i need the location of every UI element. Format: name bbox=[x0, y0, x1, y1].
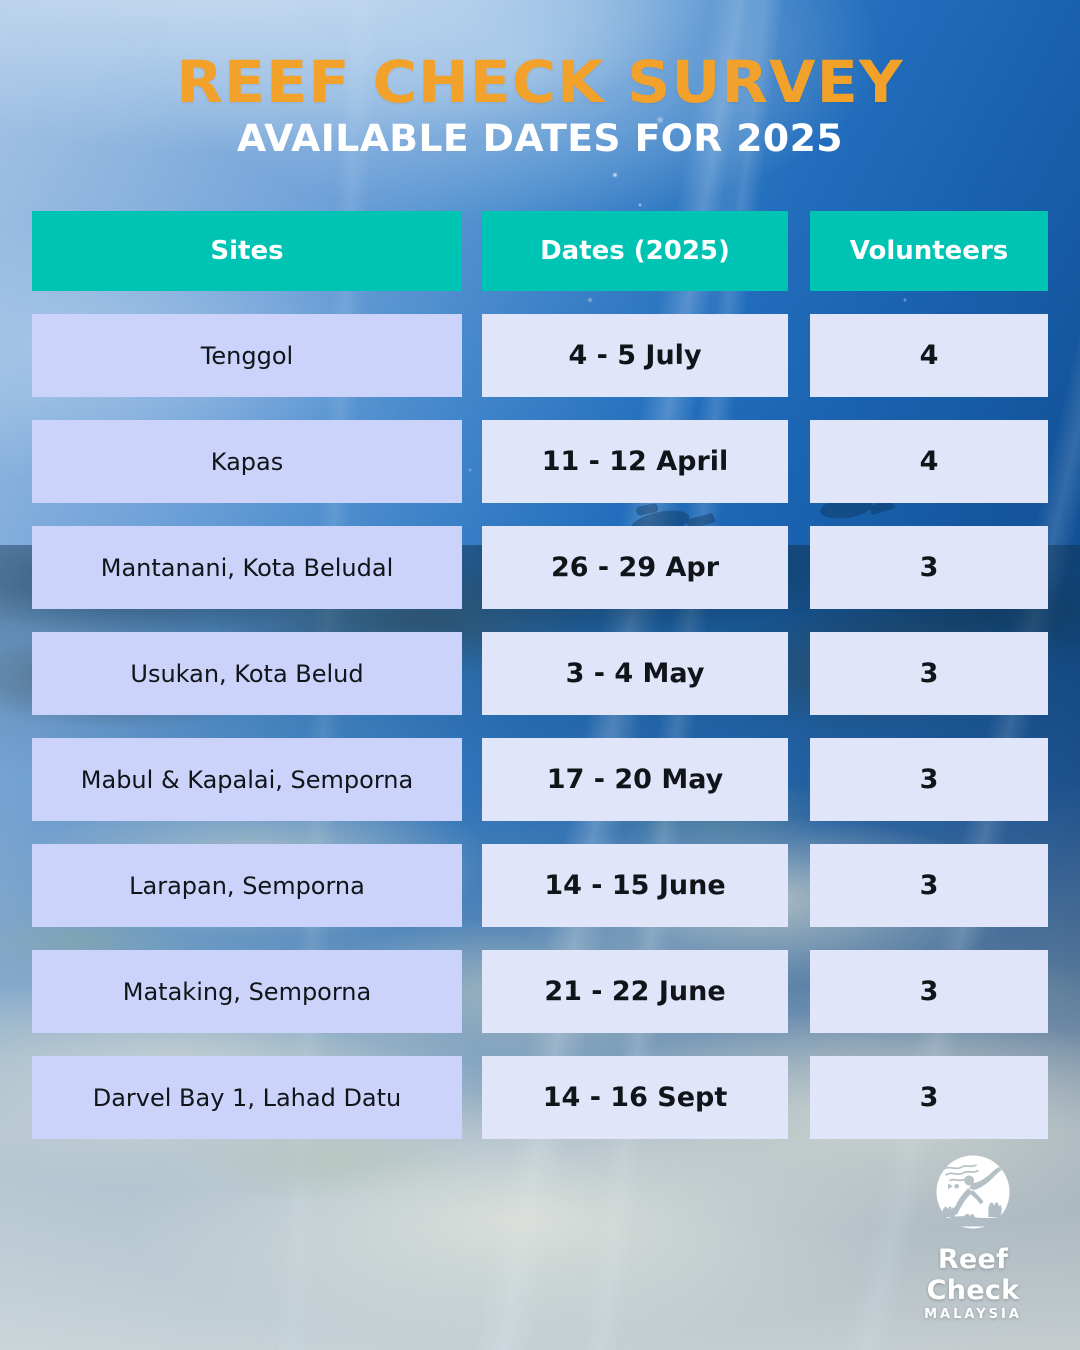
logo-wordmark: Reef Check bbox=[898, 1244, 1048, 1306]
column-header-volunteers: Volunteers bbox=[810, 211, 1048, 291]
cell-volunteers: 3 bbox=[810, 526, 1048, 609]
table-row: Mabul & Kapalai, Semporna 17 - 20 May 3 bbox=[32, 738, 1048, 821]
page-subtitle: AVAILABLE DATES FOR 2025 bbox=[0, 120, 1080, 159]
reef-check-diver-icon bbox=[925, 1144, 1021, 1240]
cell-volunteers: 3 bbox=[810, 844, 1048, 927]
logo-country-tag: MALAYSIA bbox=[898, 1307, 1048, 1322]
cell-dates: 17 - 20 May bbox=[482, 738, 788, 821]
column-header-dates: Dates (2025) bbox=[482, 211, 788, 291]
table-header-row: Sites Dates (2025) Volunteers bbox=[32, 211, 1048, 291]
cell-dates: 4 - 5 July bbox=[482, 314, 788, 397]
cell-dates: 14 - 16 Sept bbox=[482, 1056, 788, 1139]
survey-schedule-table: Sites Dates (2025) Volunteers Tenggol 4 … bbox=[32, 211, 1048, 1139]
reef-check-logo: Reef Check MALAYSIA bbox=[898, 1144, 1048, 1322]
cell-volunteers: 4 bbox=[810, 314, 1048, 397]
table-row: Mantanani, Kota Beludal 26 - 29 Apr 3 bbox=[32, 526, 1048, 609]
cell-site: Tenggol bbox=[32, 314, 462, 397]
table-row: Darvel Bay 1, Lahad Datu 14 - 16 Sept 3 bbox=[32, 1056, 1048, 1139]
cell-volunteers: 3 bbox=[810, 950, 1048, 1033]
cell-site: Kapas bbox=[32, 420, 462, 503]
cell-site: Mabul & Kapalai, Semporna bbox=[32, 738, 462, 821]
cell-dates: 14 - 15 June bbox=[482, 844, 788, 927]
cell-site: Larapan, Semporna bbox=[32, 844, 462, 927]
cell-volunteers: 4 bbox=[810, 420, 1048, 503]
cell-dates: 21 - 22 June bbox=[482, 950, 788, 1033]
cell-dates: 3 - 4 May bbox=[482, 632, 788, 715]
cell-dates: 11 - 12 April bbox=[482, 420, 788, 503]
table-row: Larapan, Semporna 14 - 15 June 3 bbox=[32, 844, 1048, 927]
table-row: Tenggol 4 - 5 July 4 bbox=[32, 314, 1048, 397]
cell-site: Mantanani, Kota Beludal bbox=[32, 526, 462, 609]
table-row: Kapas 11 - 12 April 4 bbox=[32, 420, 1048, 503]
cell-site: Usukan, Kota Belud bbox=[32, 632, 462, 715]
table-row: Mataking, Semporna 21 - 22 June 3 bbox=[32, 950, 1048, 1033]
cell-site: Mataking, Semporna bbox=[32, 950, 462, 1033]
cell-dates: 26 - 29 Apr bbox=[482, 526, 788, 609]
poster-canvas: REEF CHECK SURVEY AVAILABLE DATES FOR 20… bbox=[0, 0, 1080, 1350]
column-header-sites: Sites bbox=[32, 211, 462, 291]
page-title: REEF CHECK SURVEY bbox=[0, 52, 1080, 112]
cell-volunteers: 3 bbox=[810, 632, 1048, 715]
cell-volunteers: 3 bbox=[810, 1056, 1048, 1139]
cell-site: Darvel Bay 1, Lahad Datu bbox=[32, 1056, 462, 1139]
poster-heading: REEF CHECK SURVEY AVAILABLE DATES FOR 20… bbox=[0, 52, 1080, 159]
table-row: Usukan, Kota Belud 3 - 4 May 3 bbox=[32, 632, 1048, 715]
cell-volunteers: 3 bbox=[810, 738, 1048, 821]
